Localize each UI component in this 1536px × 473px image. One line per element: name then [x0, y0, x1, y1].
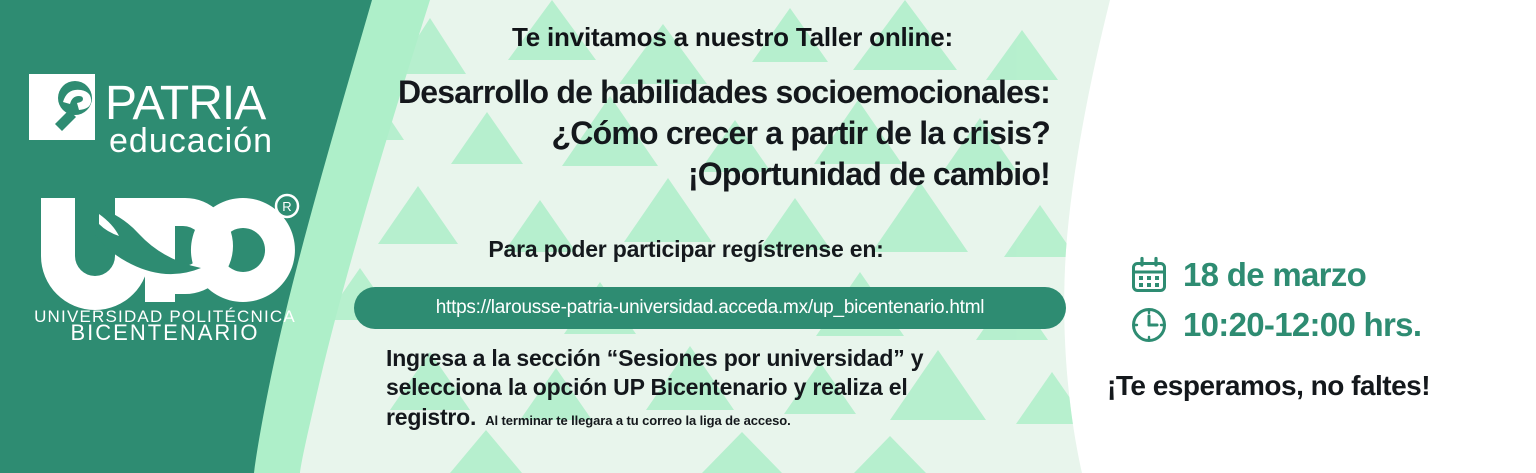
university-line2: BICENTENARIO — [70, 320, 259, 340]
headline-line-1: Desarrollo de habilidades socioemocional… — [336, 72, 1050, 113]
registration-url-pill[interactable]: https://larousse-patria-universidad.acce… — [354, 287, 1066, 329]
headline-block: Desarrollo de habilidades socioemocional… — [336, 72, 1056, 195]
instructions-fineprint: Al terminar te llegara a tu correo la li… — [485, 413, 790, 430]
brand-logo-column: PATRIA educación R UNIVERSIDAD P — [0, 0, 330, 473]
instructions-line-2: selecciona la opción UP Bicentenario y r… — [386, 373, 1046, 402]
headline-line-2: ¿Cómo crecer a partir de la crisis? — [336, 113, 1050, 154]
instructions-block: Ingresa a la sección “Sesiones por unive… — [386, 344, 1046, 432]
closing-message: ¡Te esperamos, no faltes! — [1107, 370, 1430, 402]
register-prompt: Para poder participar regístrense en: — [336, 236, 1036, 263]
svg-text:educación: educación — [109, 122, 273, 158]
headline-line-3: ¡Oportunidad de cambio! — [336, 154, 1050, 195]
instructions-line-3: registro. Al terminar te llegara a tu co… — [386, 403, 1046, 432]
instructions-line-1: Ingresa a la sección “Sesiones por unive… — [386, 344, 1046, 373]
calendar-icon — [1129, 255, 1169, 295]
event-date-value: 18 de marzo — [1183, 256, 1366, 294]
event-date-row: 18 de marzo — [1129, 255, 1366, 295]
clock-icon — [1129, 305, 1169, 345]
event-time-value: 10:20-12:00 hrs. — [1183, 306, 1421, 344]
patria-educacion-logo: PATRIA educación — [27, 72, 303, 158]
registration-url-text: https://larousse-patria-universidad.acce… — [436, 297, 985, 319]
instructions-word-registro: registro. — [386, 403, 476, 432]
registered-trademark-symbol: R — [276, 195, 298, 217]
event-time-row: 10:20-12:00 hrs. — [1129, 305, 1421, 345]
kicker-text: Te invitamos a nuestro Taller online: — [512, 22, 953, 53]
main-content: Te invitamos a nuestro Taller online: De… — [336, 0, 1056, 473]
event-details-column: 18 de marzo 10:20-12:00 hrs. ¡Te esperam… — [1095, 0, 1536, 473]
svg-text:R: R — [282, 199, 291, 214]
up-bicentenario-logo: R UNIVERSIDAD POLITÉCNICA BICENTENARIO — [29, 192, 301, 340]
event-promo-banner: PATRIA educación R UNIVERSIDAD P — [0, 0, 1536, 473]
